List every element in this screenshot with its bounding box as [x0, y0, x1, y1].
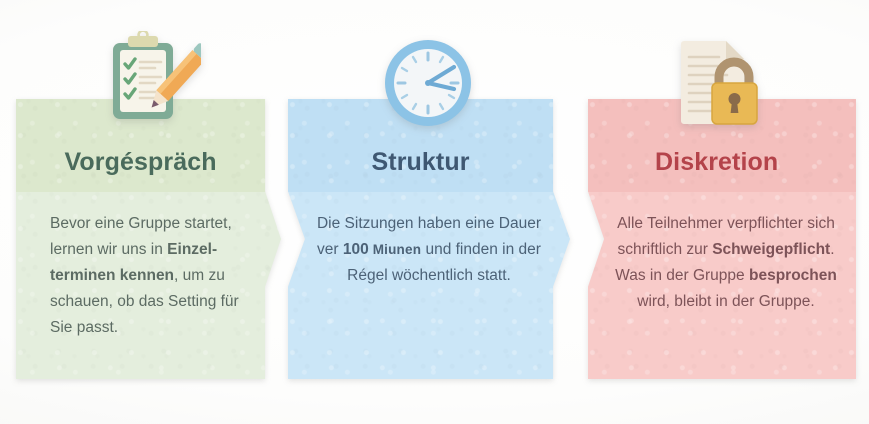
card-title-struktur: Struktur	[288, 148, 553, 177]
card-title-diskretion: Diskretion	[577, 148, 856, 177]
clipboard-checklist-pencil-icon	[97, 31, 201, 135]
card-body-text-vorgespraech: Bevor eine Gruppe startet, lernen wir un…	[16, 211, 281, 341]
card-vorgespraech[interactable]: Vorgéspräch Bevor eine Gruppe startet, l…	[16, 99, 281, 379]
document-padlock-icon	[667, 31, 771, 135]
card-body-text-struktur: Die Sitzungen haben eine Dauer ver 100 M…	[288, 211, 570, 289]
body-run-bold: 100	[343, 241, 369, 258]
body-run-bold-small: Miunen	[369, 242, 421, 257]
body-run-bold: besprochen	[749, 267, 837, 284]
wall-clock-icon	[376, 31, 480, 135]
card-title-vorgespraech: Vorgéspräch	[16, 148, 265, 177]
body-run: wird, bleibt in der Gruppe.	[637, 293, 814, 310]
card-body-text-diskretion: Alle Teilnehmer verpflichter sich schrif…	[588, 211, 856, 315]
body-run-bold: Schweigepflicht	[712, 241, 830, 258]
cards-stage: Vorgéspräch Bevor eine Gruppe startet, l…	[0, 0, 869, 424]
card-struktur[interactable]: Struktur Die Sitzungen haben eine Dauer …	[288, 99, 570, 379]
card-diskretion[interactable]: Diskretion Alle Teilnehmer verpflichter …	[588, 99, 856, 379]
